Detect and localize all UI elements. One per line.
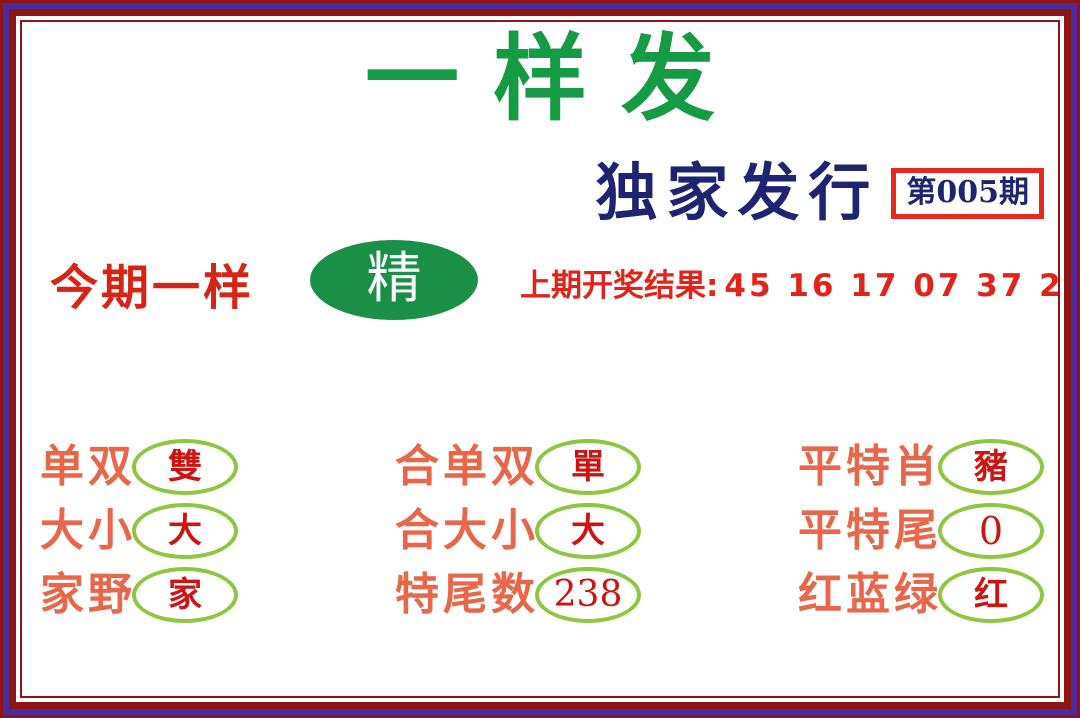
subtitle-row: 独家发行 第005期 bbox=[22, 162, 1058, 224]
row-label: 家野 bbox=[40, 573, 136, 617]
row-value-oval: 红 bbox=[938, 567, 1044, 623]
grid-column-2: 合单双 單 合大小 大 特尾数 238 bbox=[395, 440, 641, 622]
row-label: 特尾数 bbox=[395, 573, 539, 617]
row-value-oval: 豬 bbox=[938, 439, 1044, 495]
row-value-oval: 238 bbox=[535, 567, 641, 623]
row-label: 平特肖 bbox=[798, 445, 942, 489]
last-draw-result: 上期开奖结果:45 16 17 07 37 28+33 bbox=[520, 260, 1058, 305]
grid-row: 平特肖 豬 bbox=[798, 440, 1044, 494]
row-label: 合大小 bbox=[395, 509, 539, 553]
row-value: 大 bbox=[168, 514, 202, 548]
poster-canvas: 一样发 独家发行 第005期 今期一样 精 上期开奖结果:45 16 17 07… bbox=[22, 22, 1058, 696]
row-value-oval: 雙 bbox=[132, 439, 238, 495]
row-label: 单双 bbox=[40, 445, 136, 489]
tagline-row: 今期一样 精 上期开奖结果:45 16 17 07 37 28+33 bbox=[22, 240, 1058, 326]
grid-row: 大小 大 bbox=[40, 504, 238, 558]
grid-row: 平特尾 0 bbox=[798, 504, 1044, 558]
row-value: 红 bbox=[974, 578, 1008, 612]
page-title: 一样发 bbox=[22, 30, 1058, 129]
issue-badge: 第005期 bbox=[891, 168, 1044, 219]
row-value: 0 bbox=[979, 512, 1003, 550]
row-value-oval: 單 bbox=[535, 439, 641, 495]
row-label: 平特尾 bbox=[798, 509, 942, 553]
row-value-oval: 家 bbox=[132, 567, 238, 623]
grid-row: 家野 家 bbox=[40, 568, 238, 622]
highlight-glyph: 精 bbox=[366, 251, 421, 310]
row-value: 238 bbox=[554, 577, 623, 613]
tagline-text: 今期一样 bbox=[50, 248, 254, 318]
grid-row: 合单双 單 bbox=[395, 440, 641, 494]
row-value: 豬 bbox=[974, 450, 1008, 484]
row-label: 合单双 bbox=[395, 445, 539, 489]
prediction-grid: 单双 雙 大小 大 家野 家 bbox=[22, 440, 1058, 622]
row-value: 大 bbox=[571, 514, 605, 548]
subtitle-text: 独家发行 bbox=[586, 162, 879, 224]
grid-row: 红蓝绿 红 bbox=[798, 568, 1044, 622]
grid-row: 特尾数 238 bbox=[395, 568, 641, 622]
row-label: 大小 bbox=[40, 509, 136, 553]
last-draw-label: 上期开奖结果: bbox=[520, 268, 718, 304]
grid-row: 合大小 大 bbox=[395, 504, 641, 558]
row-label: 红蓝绿 bbox=[798, 573, 942, 617]
row-value-oval: 大 bbox=[132, 503, 238, 559]
row-value-oval: 0 bbox=[938, 503, 1044, 559]
row-value: 雙 bbox=[168, 450, 202, 484]
row-value: 家 bbox=[168, 578, 202, 612]
row-value-oval: 大 bbox=[535, 503, 641, 559]
row-value: 單 bbox=[571, 450, 605, 484]
grid-row: 单双 雙 bbox=[40, 440, 238, 494]
highlight-oval: 精 bbox=[310, 240, 478, 320]
grid-column-1: 单双 雙 大小 大 家野 家 bbox=[40, 440, 238, 622]
last-draw-numbers: 45 16 17 07 37 28+33 bbox=[724, 268, 1058, 304]
grid-column-3: 平特肖 豬 平特尾 0 红蓝绿 红 bbox=[798, 440, 1044, 622]
lottery-poster: 一样发 独家发行 第005期 今期一样 精 上期开奖结果:45 16 17 07… bbox=[0, 0, 1080, 718]
